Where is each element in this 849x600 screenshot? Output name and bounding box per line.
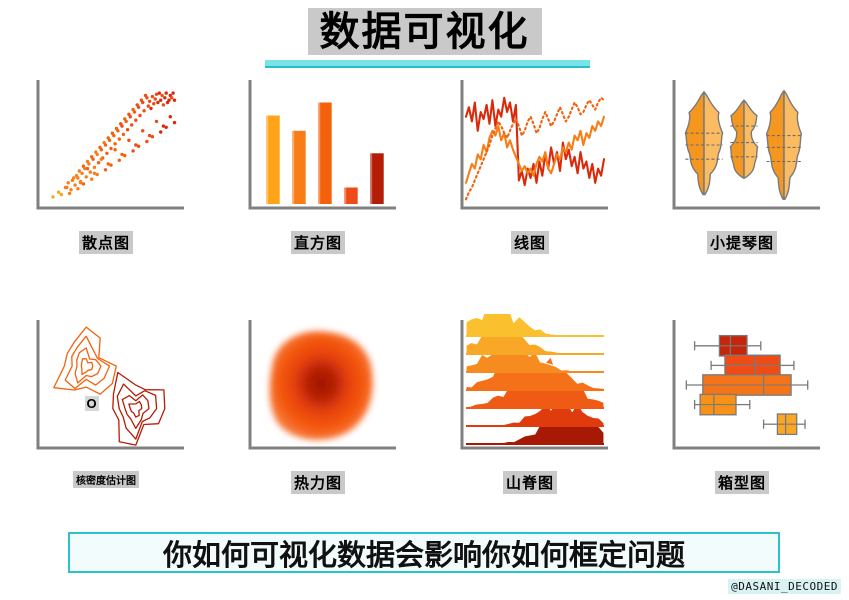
caption-boxplot: 箱型图 xyxy=(715,471,769,494)
scatter-plot xyxy=(24,74,189,224)
line-plot xyxy=(448,74,613,224)
bottom-banner-text: 你如何可视化数据会影响你如何框定问题 xyxy=(163,532,685,574)
ridgeline-rows xyxy=(466,314,604,444)
line-svg xyxy=(448,74,613,224)
page-title-text: 数据可视化 xyxy=(308,8,542,55)
chart-cell-kde[interactable]: O 核密度估计图 xyxy=(0,314,212,494)
violin-shapes xyxy=(685,91,801,200)
page-title: 数据可视化 xyxy=(0,8,849,55)
heatmap-svg xyxy=(236,314,401,464)
caption-ridgeline: 山脊图 xyxy=(503,471,557,494)
line-series xyxy=(466,98,604,200)
axis-lines xyxy=(38,80,184,208)
scatter-svg xyxy=(24,74,189,224)
histogram-plot xyxy=(236,74,401,224)
caption-kde: 核密度估计图 xyxy=(73,471,139,488)
ridgeline-svg xyxy=(448,314,613,464)
kde-contours xyxy=(53,327,164,445)
boxplot-plot xyxy=(660,314,825,464)
boxplot-svg xyxy=(660,314,825,464)
caption-scatter: 散点图 xyxy=(79,231,133,254)
chart-cell-line[interactable]: 线图 xyxy=(424,74,636,254)
kde-plot: O xyxy=(24,314,189,464)
watermark: @DASANI_DECODED xyxy=(728,579,841,594)
histogram-bars xyxy=(266,103,384,205)
chart-cell-ridgeline[interactable]: 山脊图 xyxy=(424,314,636,494)
caption-line: 线图 xyxy=(511,231,549,254)
chart-cell-heatmap[interactable]: 热力图 xyxy=(212,314,424,494)
scatter-points xyxy=(51,91,176,198)
caption-histogram: 直方图 xyxy=(291,231,345,254)
caption-heatmap: 热力图 xyxy=(291,471,345,494)
violin-plot xyxy=(660,74,825,224)
boxplot-boxes xyxy=(686,336,807,435)
chart-cell-violin[interactable]: 小提琴图 xyxy=(636,74,848,254)
chart-grid: 散点图 直方图 xyxy=(0,74,849,494)
kde-annotation: O xyxy=(85,396,99,411)
chart-cell-histogram[interactable]: 直方图 xyxy=(212,74,424,254)
bottom-banner: 你如何可视化数据会影响你如何框定问题 xyxy=(68,532,780,573)
title-underline xyxy=(265,60,590,68)
chart-cell-boxplot[interactable]: 箱型图 xyxy=(636,314,848,494)
histogram-svg xyxy=(236,74,401,224)
heatmap-blob xyxy=(269,331,372,440)
heatmap-plot xyxy=(236,314,401,464)
violin-svg xyxy=(660,74,825,224)
chart-cell-scatter[interactable]: 散点图 xyxy=(0,74,212,254)
caption-violin: 小提琴图 xyxy=(707,231,777,254)
ridgeline-plot xyxy=(448,314,613,464)
chart-row-bottom: O 核密度估计图 xyxy=(0,314,849,494)
chart-row-top: 散点图 直方图 xyxy=(0,74,849,254)
kde-svg xyxy=(24,314,189,464)
